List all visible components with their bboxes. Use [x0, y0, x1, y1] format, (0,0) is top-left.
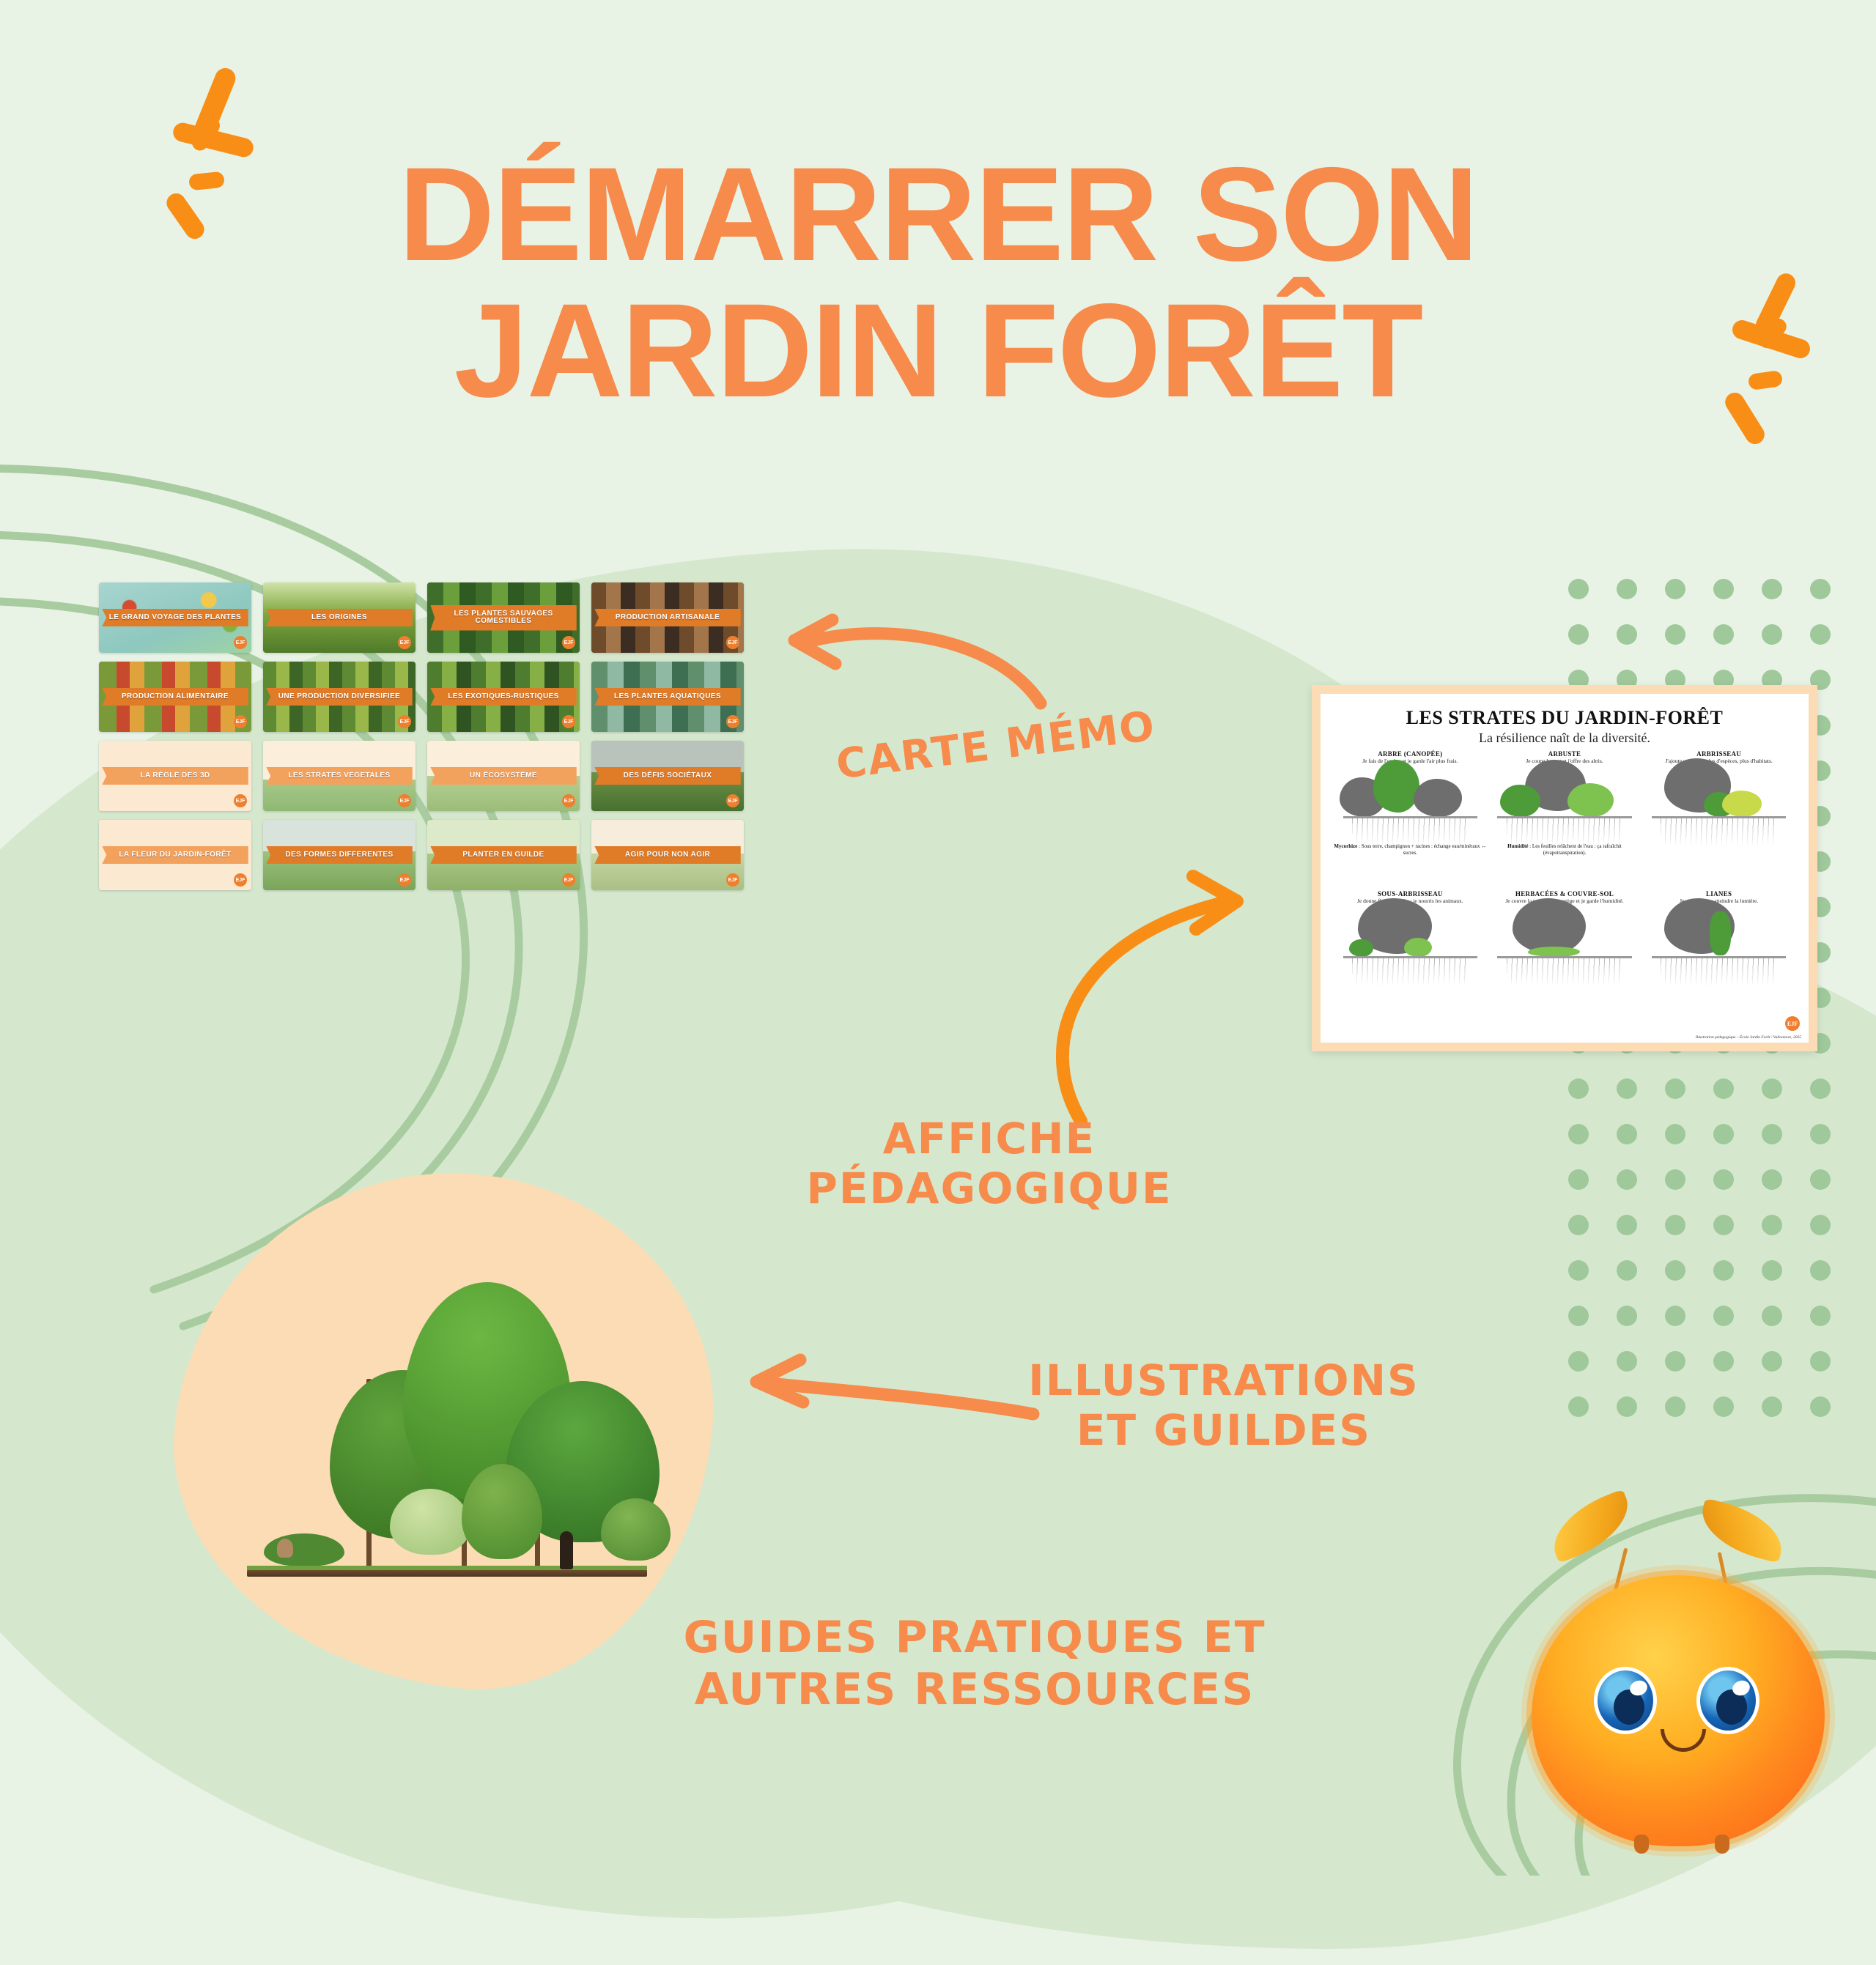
strata-name: HERBACÉES & COUVRE-SOL — [1488, 890, 1641, 898]
dot — [1810, 1124, 1831, 1144]
poster-canvas: DÉMARRER SON JARDIN FORÊT LE GRAND VOYAG… — [0, 0, 1876, 1876]
strata-name: ARBUSTE — [1488, 750, 1641, 758]
memo-card-logo: EJF — [398, 636, 411, 649]
memo-card-logo: EJF — [398, 794, 411, 807]
memo-card[interactable]: DES FORMES DIFFERENTESEJF — [263, 820, 416, 890]
memo-card-logo: EJF — [234, 636, 247, 649]
poster-inner: LES STRATES DU JARDIN-FORÊT La résilienc… — [1321, 694, 1809, 1043]
strata-cell: ARBRISSEAUJ'ajoute un étage : plus d'esp… — [1642, 750, 1795, 889]
annotation-guides-line1: GUIDES PRATIQUES ET — [683, 1612, 1266, 1663]
annotation-affiche-line1: AFFICHE — [883, 1114, 1096, 1163]
strata-tree-illustration — [1642, 766, 1795, 848]
memo-card-logo: EJF — [562, 636, 575, 649]
strata-cell: ARBRE (CANOPÉE)Je fais de l'ombre et je … — [1334, 750, 1487, 889]
dot — [1762, 1124, 1782, 1144]
dot — [1568, 1124, 1589, 1144]
mascot-body — [1532, 1575, 1825, 1846]
memo-card[interactable]: PLANTER EN GUILDEEJF — [427, 820, 580, 890]
memo-card-logo: EJF — [726, 715, 739, 728]
annotation-guides-ressources: GUIDES PRATIQUES ET AUTRES RESSOURCES — [674, 1612, 1275, 1716]
dot — [1713, 624, 1734, 645]
memo-card-logo: EJF — [234, 794, 247, 807]
dot — [1762, 624, 1782, 645]
dot — [1568, 1169, 1589, 1190]
dot — [1568, 1260, 1589, 1281]
poster-title: LES STRATES DU JARDIN-FORÊT — [1334, 707, 1795, 729]
dot — [1713, 579, 1734, 599]
memo-card-logo: EJF — [726, 873, 739, 887]
memo-card-logo: EJF — [234, 715, 247, 728]
strata-tree-illustration — [1642, 906, 1795, 988]
dot — [1617, 1351, 1637, 1372]
memo-card-logo: EJF — [562, 873, 575, 887]
strata-name: SOUS-ARBRISSEAU — [1334, 890, 1487, 898]
strata-tree-illustration — [1488, 906, 1641, 988]
title-line-1: DÉMARRER SON — [399, 139, 1478, 289]
dot — [1617, 1169, 1637, 1190]
dot — [1810, 1396, 1831, 1417]
memo-card[interactable]: UNE PRODUCTION DIVERSIFIEEEJF — [263, 662, 416, 732]
dot — [1713, 1260, 1734, 1281]
mascot-foot-left — [1634, 1835, 1649, 1854]
dot — [1568, 579, 1589, 599]
dot — [1762, 579, 1782, 599]
memo-card[interactable]: LES EXOTIQUES-RUSTIQUESEJF — [427, 662, 580, 732]
dot — [1810, 1078, 1831, 1099]
memo-card-label: LES ORIGINES — [266, 609, 413, 627]
dot — [1617, 1124, 1637, 1144]
strata-name: LIANES — [1642, 890, 1795, 898]
memo-card[interactable]: LA FLEUR DU JARDIN-FORÊTEJF — [99, 820, 251, 890]
mascot-foot-right — [1715, 1835, 1729, 1854]
memo-card[interactable]: LES ORIGINESEJF — [263, 582, 416, 653]
dot — [1617, 1078, 1637, 1099]
dot — [1568, 1078, 1589, 1099]
memo-card-grid[interactable]: LE GRAND VOYAGE DES PLANTESEJFLES ORIGIN… — [99, 582, 744, 890]
person-silhouette — [560, 1531, 573, 1569]
dot — [1617, 1215, 1637, 1235]
dot — [1617, 1306, 1637, 1326]
strata-cell: LIANESJe grimpe pour atteindre la lumièr… — [1642, 890, 1795, 1029]
strata-tree-illustration — [1488, 766, 1641, 848]
dot — [1762, 1306, 1782, 1326]
memo-card-label: DES FORMES DIFFERENTES — [266, 846, 413, 865]
dot — [1665, 1396, 1685, 1417]
strata-description: J'ajoute un étage : plus d'espèces, plus… — [1642, 758, 1795, 764]
dot — [1762, 1215, 1782, 1235]
dot — [1617, 624, 1637, 645]
memo-card-logo: EJF — [726, 794, 739, 807]
dot — [1568, 1351, 1589, 1372]
dot — [1568, 1215, 1589, 1235]
poster-subtitle: La résilience naît de la diversité. — [1334, 730, 1795, 746]
dot — [1617, 1396, 1637, 1417]
deer-figure — [277, 1539, 293, 1558]
dot — [1665, 1124, 1685, 1144]
dot — [1568, 624, 1589, 645]
mascot-eye-right — [1696, 1667, 1759, 1734]
dot — [1810, 1260, 1831, 1281]
strata-grid: ARBRE (CANOPÉE)Je fais de l'ombre et je … — [1334, 750, 1795, 1029]
dot — [1665, 1351, 1685, 1372]
strata-description: Je fais de l'ombre et je garde l'air plu… — [1334, 758, 1487, 764]
memo-card[interactable]: LES STRATES VEGETALESEJF — [263, 741, 416, 811]
dot — [1568, 1396, 1589, 1417]
memo-card-logo: EJF — [234, 873, 247, 887]
dot — [1713, 1124, 1734, 1144]
dot — [1713, 1169, 1734, 1190]
memo-card[interactable]: AGIR POUR NON AGIREJF — [591, 820, 744, 890]
memo-card[interactable]: PRODUCTION ARTISANALEEJF — [591, 582, 744, 653]
dot — [1665, 1078, 1685, 1099]
memo-card-label: PRODUCTION ALIMENTAIRE — [102, 688, 248, 706]
dot — [1762, 1396, 1782, 1417]
dot — [1665, 1306, 1685, 1326]
strata-name: ARBRE (CANOPÉE) — [1334, 750, 1487, 758]
strata-cell: SOUS-ARBRISSEAUJe donne fleurs et fruits… — [1334, 890, 1487, 1029]
strata-cell: ARBUSTEJe coupe le vent et j'offre des a… — [1488, 750, 1641, 889]
dot — [1810, 1169, 1831, 1190]
poster-logo-badge: EJF — [1785, 1016, 1800, 1031]
memo-card-logo: EJF — [562, 715, 575, 728]
annotation-guides-line2: AUTRES RESSOURCES — [695, 1664, 1255, 1715]
dot — [1713, 1396, 1734, 1417]
page-title: DÉMARRER SON JARDIN FORÊT — [0, 147, 1876, 418]
memo-card[interactable]: LE GRAND VOYAGE DES PLANTESEJF — [99, 582, 251, 653]
memo-card-label: LA FLEUR DU JARDIN-FORÊT — [102, 846, 248, 865]
dot — [1665, 1260, 1685, 1281]
memo-card-label: PRODUCTION ARTISANALE — [594, 609, 741, 627]
memo-card[interactable]: UN ÉCOSYSTÈMEEJF — [427, 741, 580, 811]
dot — [1810, 1215, 1831, 1235]
annotation-illustrations-line2: ET GUILDES — [1077, 1405, 1371, 1455]
memo-card-label: LES PLANTES AQUATIQUES — [594, 688, 741, 706]
dot — [1762, 1351, 1782, 1372]
memo-card-label: LES EXOTIQUES-RUSTIQUES — [430, 688, 577, 706]
dot — [1568, 1306, 1589, 1326]
memo-card-logo: EJF — [398, 715, 411, 728]
memo-card-label: LA RÈGLE DES 3D — [102, 767, 248, 785]
strata-tree-illustration — [1334, 766, 1487, 848]
arrow-to-poster — [1004, 857, 1260, 1136]
memo-card-label: UNE PRODUCTION DIVERSIFIEE — [266, 688, 413, 706]
dot — [1665, 579, 1685, 599]
leaf-icon-right — [1694, 1498, 1789, 1564]
dot — [1810, 1351, 1831, 1372]
dot — [1617, 1260, 1637, 1281]
memo-card[interactable]: LA RÈGLE DES 3DEJF — [99, 741, 251, 811]
dot — [1617, 579, 1637, 599]
strata-cell: HERBACÉES & COUVRE-SOLJe couvre la terre… — [1488, 890, 1641, 1029]
dot — [1665, 624, 1685, 645]
dot — [1762, 1260, 1782, 1281]
memo-card-label: LES STRATES VEGETALES — [266, 767, 413, 785]
dot — [1713, 1215, 1734, 1235]
memo-card-logo: EJF — [726, 636, 739, 649]
annotation-illustrations-guildes: ILLUSTRATIONS ET GUILDES — [1011, 1355, 1436, 1456]
dot — [1810, 1306, 1831, 1326]
memo-card-logo: EJF — [398, 873, 411, 887]
strata-name: ARBRISSEAU — [1642, 750, 1795, 758]
pedagogical-poster[interactable]: LES STRATES DU JARDIN-FORÊT La résilienc… — [1312, 685, 1817, 1051]
strata-tree-illustration — [1334, 906, 1487, 988]
title-line-2: JARDIN FORÊT — [0, 283, 1876, 419]
dot — [1713, 1306, 1734, 1326]
dot — [1713, 1351, 1734, 1372]
poster-credit: Illustration pédagogique – École Jardin … — [1696, 1035, 1801, 1040]
dot — [1762, 1078, 1782, 1099]
dot — [1810, 579, 1831, 599]
memo-card-label: LES PLANTES SAUVAGES COMESTIBLES — [430, 605, 577, 631]
dot — [1665, 1169, 1685, 1190]
dot — [1810, 624, 1831, 645]
memo-card[interactable]: LES PLANTES SAUVAGES COMESTIBLESEJF — [427, 582, 580, 653]
memo-card-label: AGIR POUR NON AGIR — [594, 846, 741, 865]
mascot-eye-left — [1594, 1667, 1657, 1734]
memo-card[interactable]: DES DÉFIS SOCIÉTAUXEJF — [591, 741, 744, 811]
memo-card[interactable]: LES PLANTES AQUATIQUESEJF — [591, 662, 744, 732]
forest-garden-illustration — [220, 1246, 674, 1612]
arrow-to-illustration — [740, 1341, 1048, 1473]
memo-card-label: DES DÉFIS SOCIÉTAUX — [594, 767, 741, 785]
memo-card-label: PLANTER EN GUILDE — [430, 846, 577, 865]
memo-card[interactable]: PRODUCTION ALIMENTAIREEJF — [99, 662, 251, 732]
annotation-affiche-pedagogique: AFFICHE PÉDAGOGIQUE — [762, 1114, 1216, 1214]
mascot-character — [1510, 1487, 1854, 1854]
annotation-illustrations-line1: ILLUSTRATIONS — [1028, 1355, 1419, 1405]
annotation-affiche-line2: PÉDAGOGIQUE — [806, 1163, 1172, 1213]
memo-card-label: UN ÉCOSYSTÈME — [430, 767, 577, 785]
memo-card-label: LE GRAND VOYAGE DES PLANTES — [102, 609, 248, 627]
dot — [1713, 1078, 1734, 1099]
dot — [1665, 1215, 1685, 1235]
memo-card-logo: EJF — [562, 794, 575, 807]
dot — [1762, 1169, 1782, 1190]
